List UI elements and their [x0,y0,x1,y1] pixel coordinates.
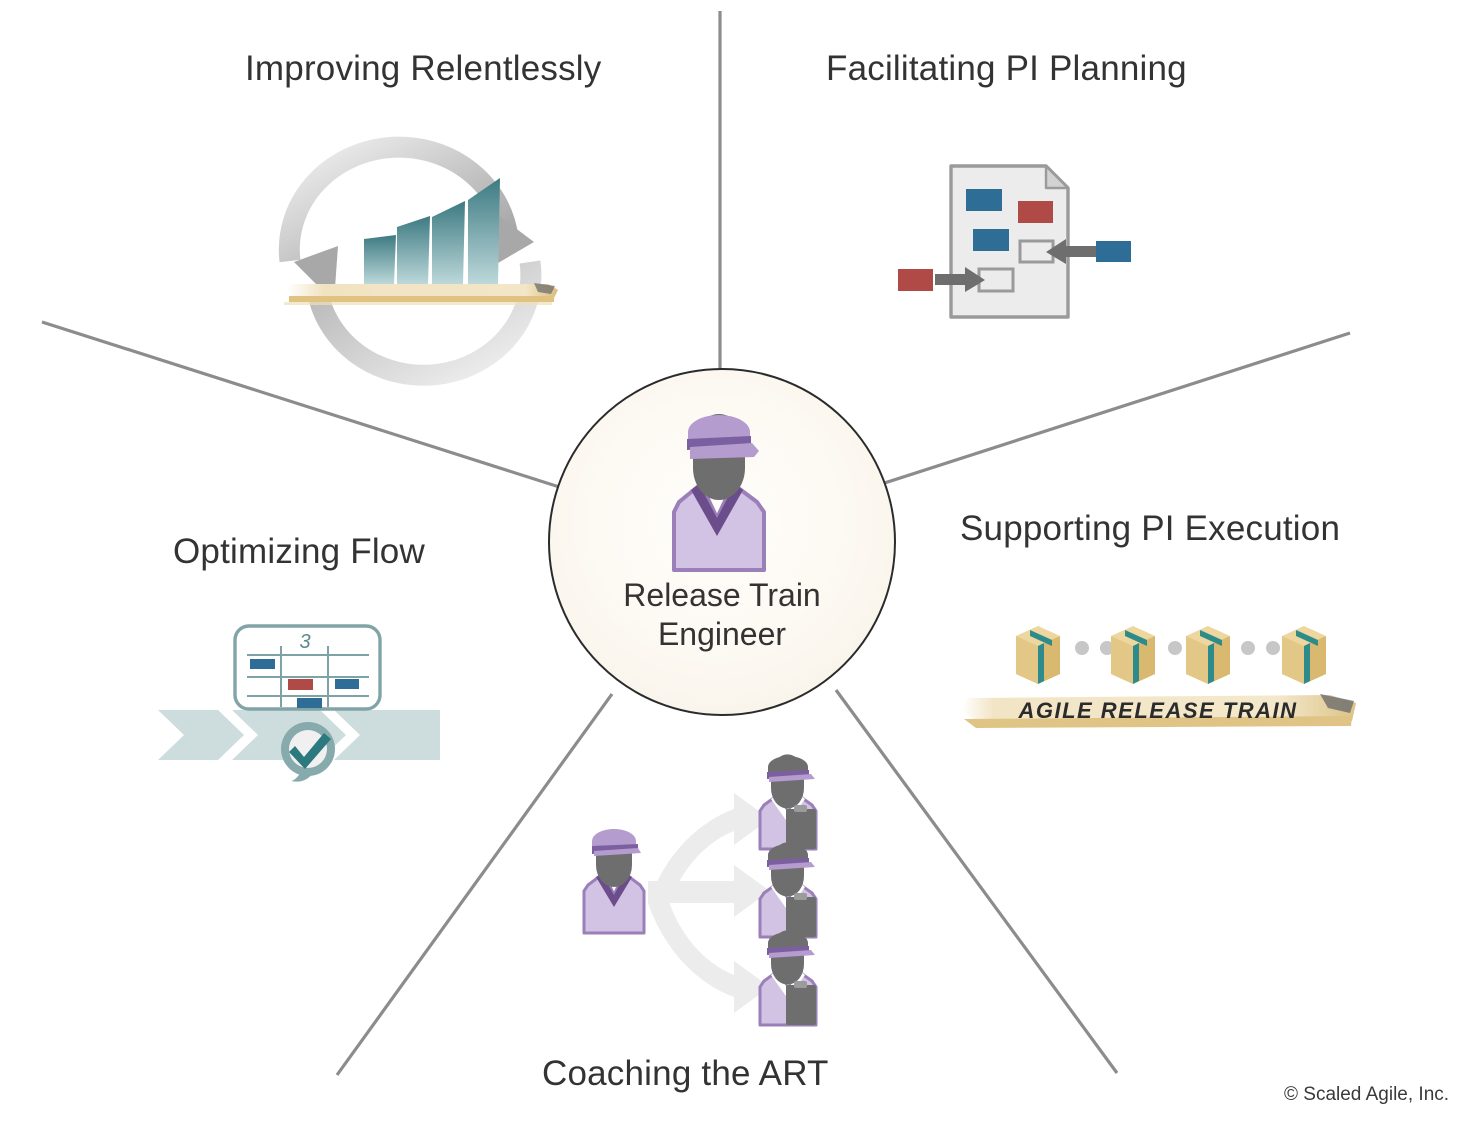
boxes-on-agile-release-train-icon: AGILE RELEASE TRAIN [958,600,1378,740]
wip-limit-value: 3 [299,631,310,653]
coach-mentoring-three-people-icon [556,745,846,1030]
mentee-figure-1 [760,754,816,849]
center-hub-circle: Release Train Engineer [548,368,896,716]
label-coaching-the-art: Coaching the ART [542,1054,829,1094]
center-label-line1: Release Train [623,577,820,613]
note-red-1 [1018,201,1053,223]
center-hub-label: Release Train Engineer [550,576,894,654]
note-blue-incoming [1096,241,1131,262]
mentee-figure-2 [760,842,816,937]
train-label: AGILE RELEASE TRAIN [1017,698,1297,723]
growth-bar-chart-with-cycle-arrows-icon [272,138,572,368]
planning-document-with-arrows-icon [878,145,1153,340]
spoke-line-upper-right [872,333,1350,487]
note-blue-1 [966,189,1002,211]
diagram-canvas: Improving Relentlessly Facilitating PI P… [0,0,1484,1134]
label-improving-relentlessly: Improving Relentlessly [245,49,602,89]
note-red-incoming [898,269,933,291]
kanban-board-with-wip-limit-icon: 3 [140,608,470,798]
person-with-cap-icon [657,418,787,578]
center-label-line2: Engineer [658,616,786,652]
note-blue-2 [973,229,1009,251]
mentee-figure-3 [760,930,816,1025]
label-optimizing-flow: Optimizing Flow [173,532,425,572]
copyright-notice: © Scaled Agile, Inc. [1284,1084,1449,1106]
label-facilitating-pi-planning: Facilitating PI Planning [826,49,1187,89]
spoke-line-lower-right [836,690,1117,1073]
coach-figure [584,829,644,933]
package-group [1016,626,1326,684]
label-supporting-pi-execution: Supporting PI Execution [960,509,1340,549]
